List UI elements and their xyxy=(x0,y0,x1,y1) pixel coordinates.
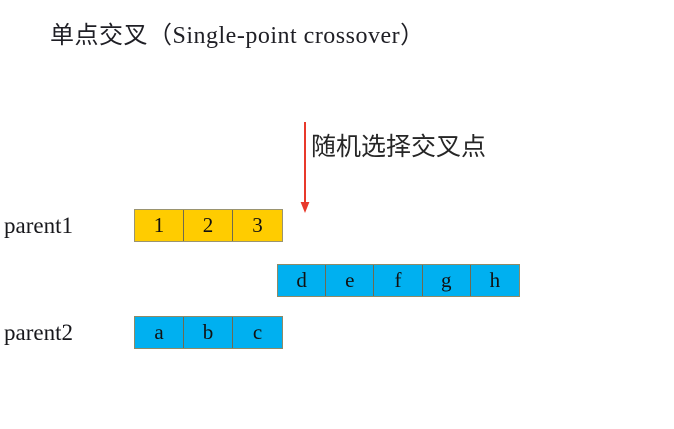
gene-cell: d xyxy=(278,265,326,296)
slide-canvas: 单点交叉（Single-point crossover） 随机选择交叉点 par… xyxy=(0,0,674,429)
parent2-label: parent2 xyxy=(4,319,73,347)
parent1-label: parent1 xyxy=(4,212,73,240)
donor-chromosome-segment: d e f g h xyxy=(277,264,520,297)
gene-cell: c xyxy=(233,317,282,348)
gene-cell: 1 xyxy=(135,210,184,241)
gene-cell: e xyxy=(326,265,374,296)
parent2-chromosome: a b c xyxy=(134,316,283,349)
gene-cell: a xyxy=(135,317,184,348)
gene-cell: h xyxy=(471,265,519,296)
gene-cell: 3 xyxy=(233,210,282,241)
gene-cell: g xyxy=(423,265,471,296)
parent1-chromosome: 1 2 3 xyxy=(134,209,283,242)
page-title: 单点交叉（Single-point crossover） xyxy=(50,20,425,52)
gene-cell: 2 xyxy=(184,210,233,241)
crossover-point-caption: 随机选择交叉点 xyxy=(311,131,486,165)
gene-cell: f xyxy=(374,265,422,296)
gene-cell: b xyxy=(184,317,233,348)
